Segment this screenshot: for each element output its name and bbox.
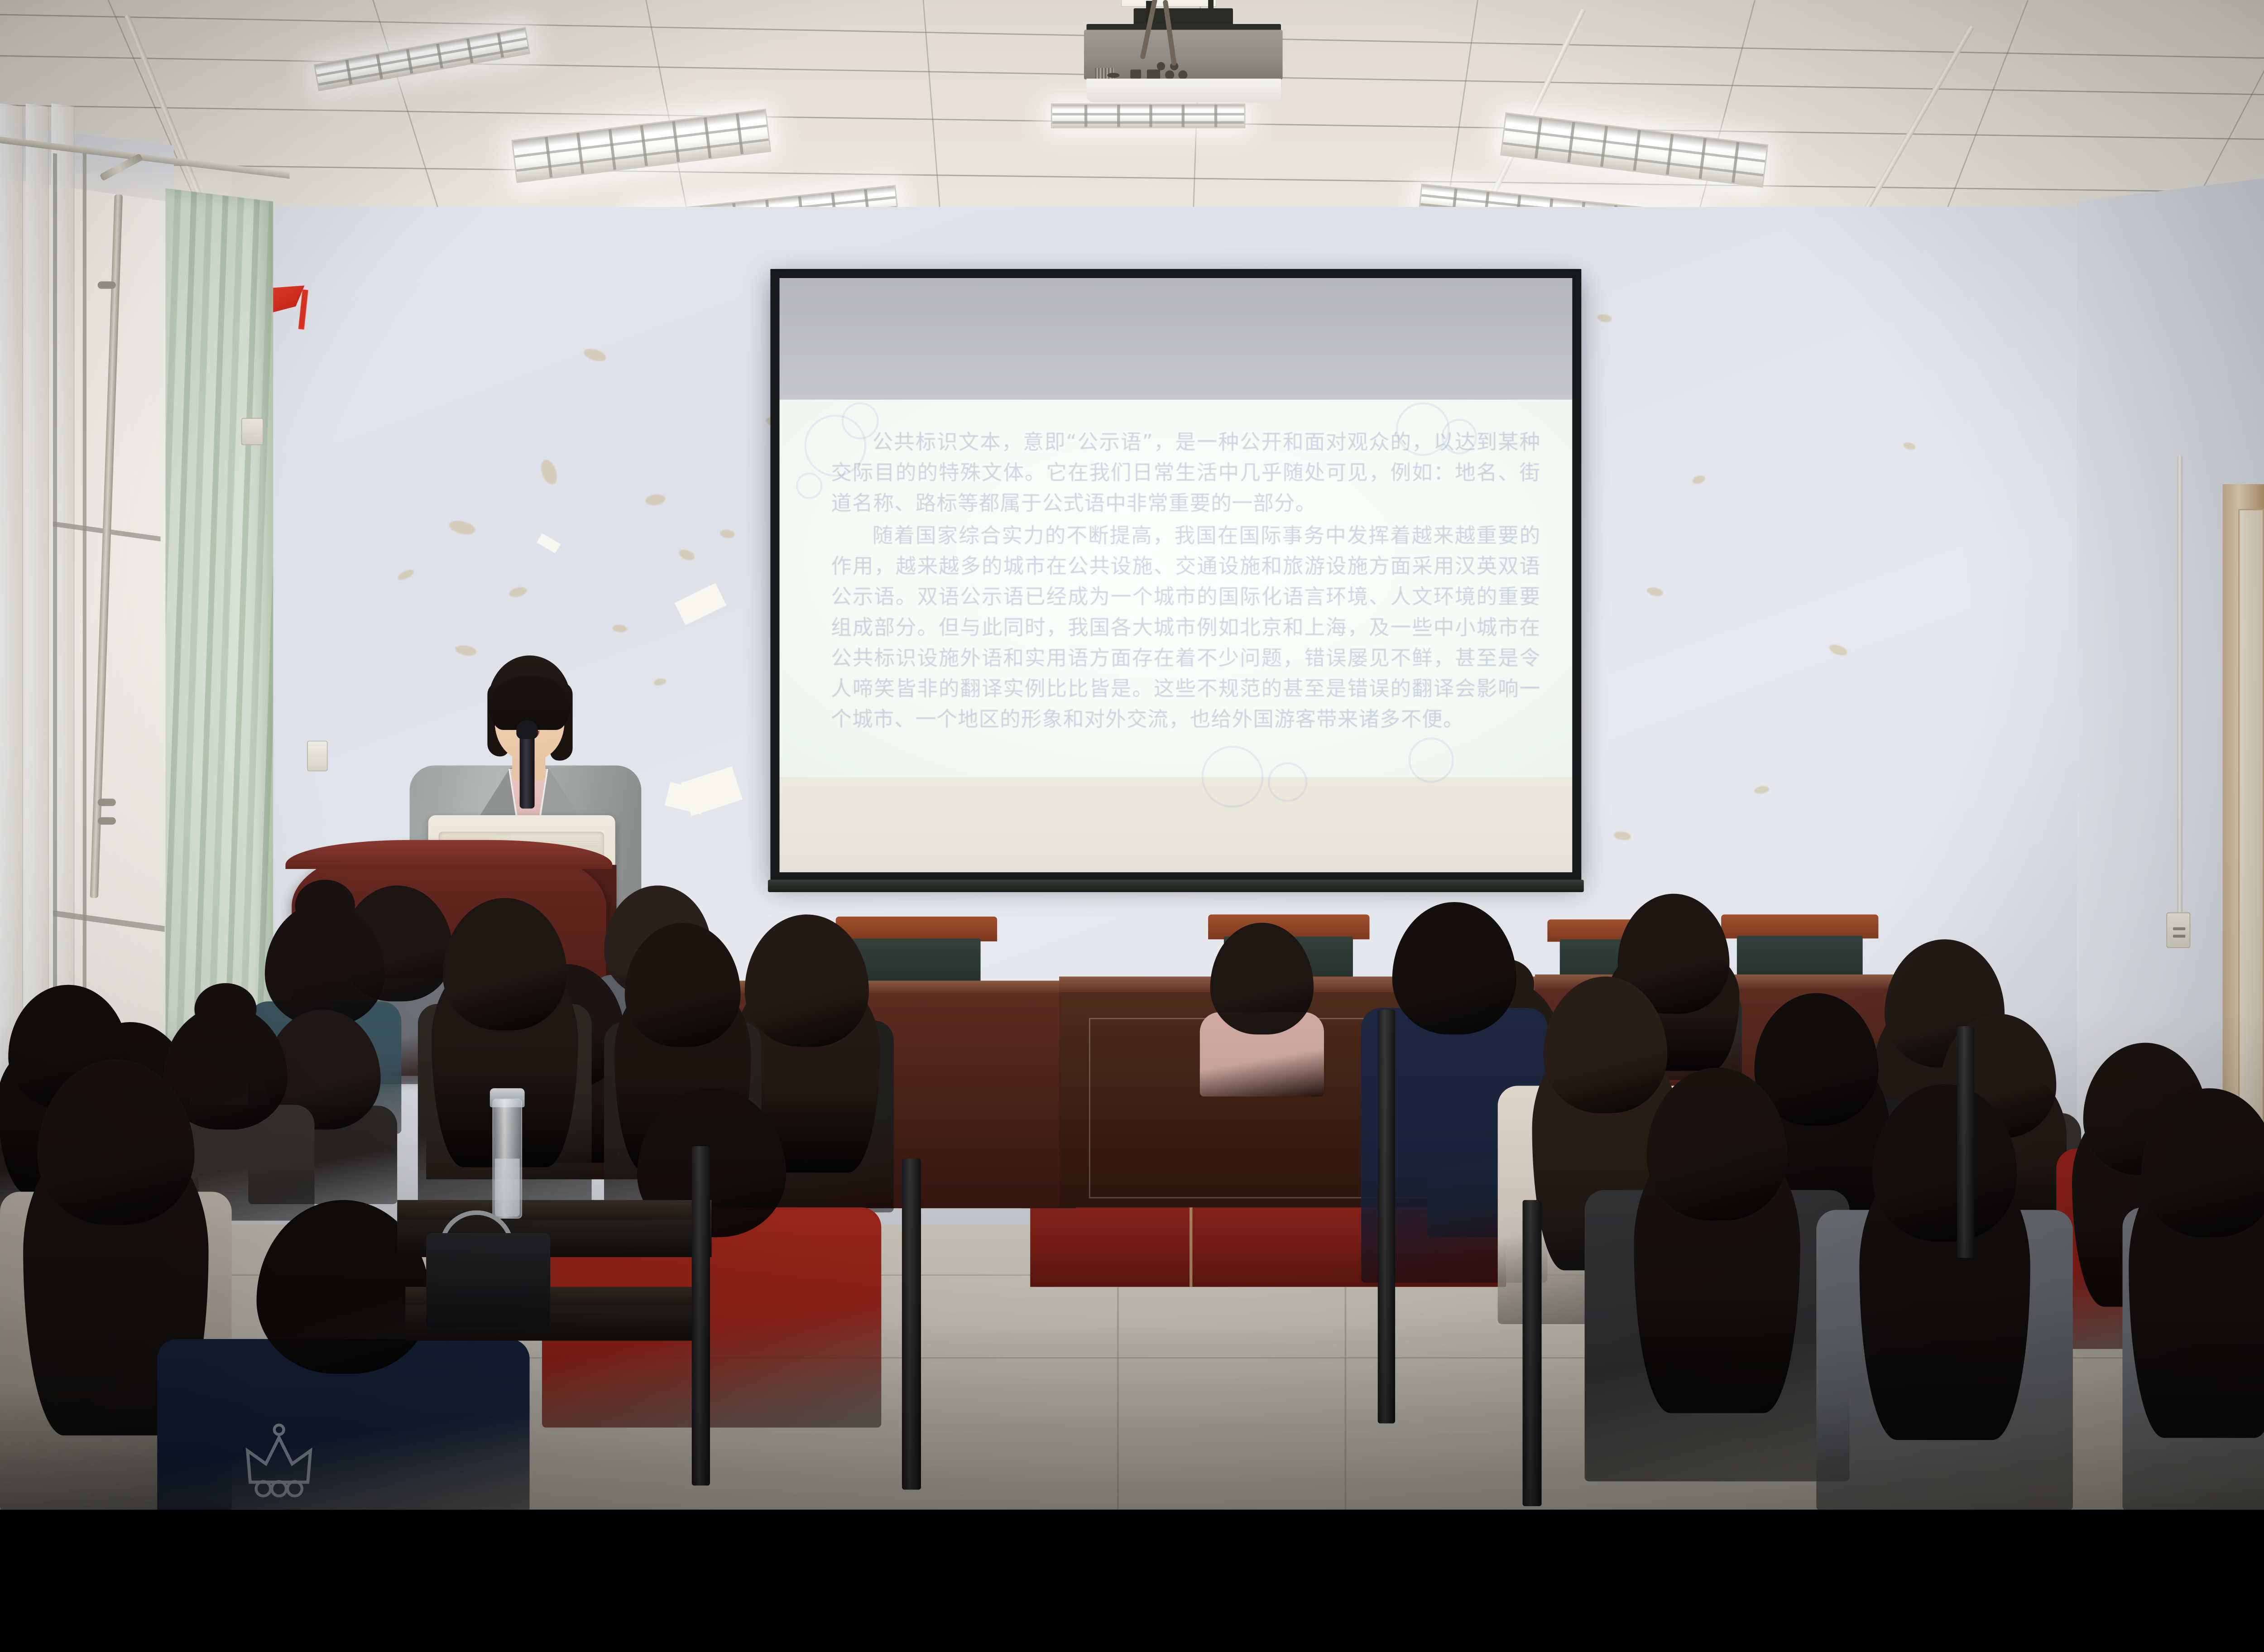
audience-member-red-black-striped-jacket <box>542 1088 881 1427</box>
bottle-water-level <box>495 1158 520 1216</box>
pole-ring <box>98 817 116 825</box>
outlet-slot-icon <box>2173 927 2185 930</box>
troffer-louver <box>672 121 680 162</box>
audience-member-head <box>745 914 869 1047</box>
vertical-blind-slat <box>26 103 49 1096</box>
projector-port-icon <box>1178 70 1187 79</box>
audience-member-hair-bun <box>295 880 355 932</box>
projector-port-icon <box>1147 70 1160 80</box>
troffer-louver <box>436 43 443 68</box>
audience-member-head <box>625 923 741 1047</box>
lecture-hall-scene: 公共标识文本，意即“公示语”，是一种公开和面对观众的，以达到某种交际目的的特殊文… <box>0 0 2264 1509</box>
seat-frame-post <box>1378 1010 1395 1424</box>
slide-bubble-decoration <box>796 472 822 499</box>
troffer-louver <box>1567 122 1575 163</box>
wall-power-outlet[interactable] <box>2166 912 2190 948</box>
window-mullion <box>53 153 57 1096</box>
troffer-louver <box>545 137 552 178</box>
seat-frame-post <box>692 1146 710 1485</box>
audience-member-head <box>1647 1067 1788 1220</box>
troffer-louver <box>1600 126 1608 167</box>
troffer-louver <box>318 46 528 86</box>
vertical-blind-slat <box>0 103 23 1096</box>
projector-port-icon <box>1165 70 1174 79</box>
troffer-louver <box>1732 142 1739 183</box>
troffer-louver <box>1084 105 1087 127</box>
troffer-louver <box>317 37 526 77</box>
troffer-louver <box>1535 118 1542 159</box>
projector-port-icon <box>1107 73 1119 78</box>
audience-member-houndstooth-coat <box>1585 1067 1850 1481</box>
troffer-louver <box>576 133 584 174</box>
wall-panel-plate <box>241 418 264 445</box>
ceiling-tile-seam <box>0 161 2264 195</box>
projection-screen[interactable]: 公共标识文本，意即“公示语”，是一种公开和面对观众的，以达到某种交际目的的特殊文… <box>770 269 1581 881</box>
troffer-louver <box>1214 105 1217 127</box>
troffer-louver <box>640 125 648 166</box>
troffer-louver <box>1052 121 1244 123</box>
projector-port-icon <box>1157 62 1165 70</box>
audience-member-grey-hood-ponytail <box>1816 1084 2073 1509</box>
troffer-louver <box>1117 105 1120 127</box>
troffer-louver <box>406 49 413 74</box>
fold-desk-surface <box>397 1200 711 1222</box>
slide-bubble-decoration <box>1408 737 1454 783</box>
projector-body <box>1084 30 1283 80</box>
pole-ring <box>98 799 116 806</box>
troffer-louver <box>466 38 474 63</box>
ceiling-light-troffer <box>314 27 530 91</box>
ceiling-projector <box>1084 8 1283 107</box>
chair-back-top[interactable] <box>1721 914 1878 938</box>
screen-bottom-band <box>779 777 1572 872</box>
wall-cable-conduit <box>2177 455 2182 918</box>
audience-member-pink-top-back <box>1200 923 1324 1097</box>
troffer-louver <box>704 117 711 158</box>
seat-frame-post <box>1523 1200 1542 1506</box>
audience-member-head <box>1872 1084 2017 1241</box>
troffer-louver <box>376 54 383 79</box>
audience-member-hair-bun <box>194 983 256 1035</box>
troffer-louver <box>1699 138 1707 179</box>
pole-ring <box>98 281 116 288</box>
screen-weight-bar <box>768 880 1584 892</box>
troffer-louver <box>608 129 616 170</box>
seat-frame-post <box>1957 1026 1974 1258</box>
seat-frame-post <box>902 1158 921 1489</box>
troffer-louver <box>735 113 743 154</box>
right-door[interactable] <box>2238 509 2264 1188</box>
projector-mount-plate <box>1121 0 1216 7</box>
projector-lens-housing <box>1086 79 1281 103</box>
black-handbag[interactable] <box>426 1233 550 1328</box>
audience-member-head <box>2141 1088 2264 1237</box>
troffer-louver <box>1503 142 1764 177</box>
troffer-louver <box>1149 105 1152 127</box>
crown-logo-icon <box>232 1419 369 1498</box>
projector-antenna <box>1208 0 1214 26</box>
projector-port-icon <box>1130 70 1141 79</box>
slide-bubble-decoration <box>1202 746 1264 808</box>
screen-top-band <box>779 278 1572 400</box>
slide-bubble-decoration <box>1268 762 1308 802</box>
outlet-slot-icon <box>2173 935 2185 937</box>
slide-paragraph-1: 公共标识文本，意即“公示语”，是一种公开和面对观众的，以达到某种交际目的的特殊文… <box>831 427 1540 519</box>
audience-member-head <box>1210 923 1314 1035</box>
microphone-head-icon <box>516 720 538 739</box>
screen-surface: 公共标识文本，意即“公示语”，是一种公开和面对观众的，以达到某种交际目的的特殊文… <box>779 278 1572 872</box>
troffer-louver <box>1052 113 1244 115</box>
troffer-louver <box>497 33 504 58</box>
audience-member-grey-coat-far-right <box>2123 1088 2264 1509</box>
audience-member-head <box>443 898 567 1030</box>
wall-switch-plate[interactable] <box>307 741 328 772</box>
slide-paragraph-2: 随着国家综合实力的不断提高，我国在国际事务中发挥着越来越重要的作用，越来越多的城… <box>831 520 1540 735</box>
troffer-louver <box>345 60 353 85</box>
troffer-louver <box>1666 134 1674 175</box>
slide-text-block: 公共标识文本，意即“公示语”，是一种公开和面对观众的，以达到某种交际目的的特殊文… <box>831 427 1540 736</box>
ceiling-light-troffer <box>1500 112 1768 187</box>
window-mullion <box>83 153 86 1096</box>
troffer-louver <box>1633 130 1640 171</box>
troffer-louver <box>1182 105 1185 127</box>
